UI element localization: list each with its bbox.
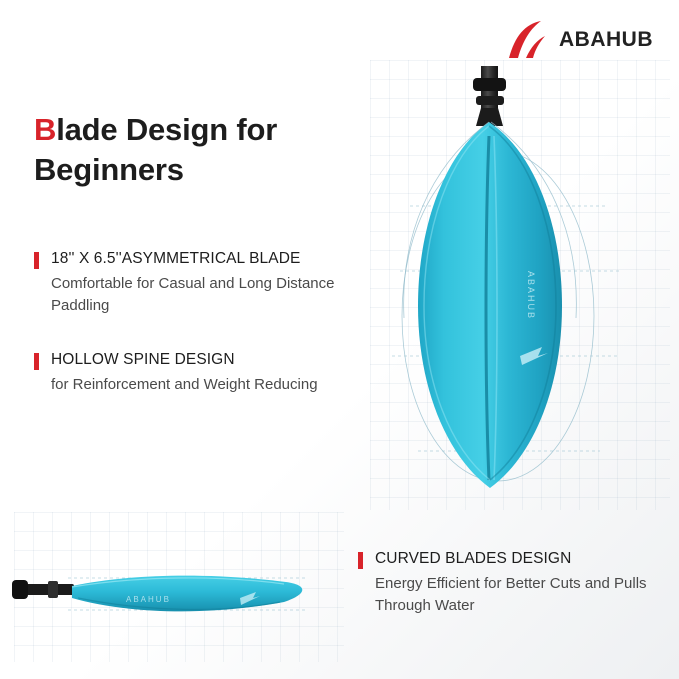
feature-title: CURVED BLADES DESIGN [375, 549, 658, 568]
feature-marker-icon [358, 552, 363, 569]
feature-asymmetrical-blade: 18'' X 6.5''ASYMMETRICAL BLADE Comfortab… [34, 249, 369, 317]
page-title: Blade Design for Beginners [34, 110, 364, 189]
blade-imprint-bottom: ABAHUB [126, 595, 171, 604]
feature-marker-icon [34, 252, 39, 269]
product-infographic-page: ABAHUB Blade Design for Beginners 18'' X… [0, 0, 679, 679]
feature-curved-blades: CURVED BLADES DESIGN Energy Efficient fo… [358, 549, 658, 617]
blade-imprint-top: ABAHUB [526, 271, 536, 320]
feature-hollow-spine: HOLLOW SPINE DESIGN for Reinforcement an… [34, 350, 369, 396]
feature-title: HOLLOW SPINE DESIGN [51, 350, 369, 369]
feature-body: for Reinforcement and Weight Reducing [51, 374, 369, 396]
feature-body: Energy Efficient for Better Cuts and Pul… [375, 573, 658, 617]
feature-body: Comfortable for Casual and Long Distance… [51, 273, 369, 317]
headline-line-1: lade Design for [56, 112, 277, 147]
headline-line-2: Beginners [34, 152, 184, 187]
headline-accent-letter: B [34, 112, 56, 147]
paddle-blade-side-image: ABAHUB [8, 540, 343, 650]
paddle-blade-front-image: ABAHUB [370, 56, 660, 511]
feature-marker-icon [34, 353, 39, 370]
feature-title: 18'' X 6.5''ASYMMETRICAL BLADE [51, 249, 369, 268]
brand-name: ABAHUB [559, 28, 653, 52]
